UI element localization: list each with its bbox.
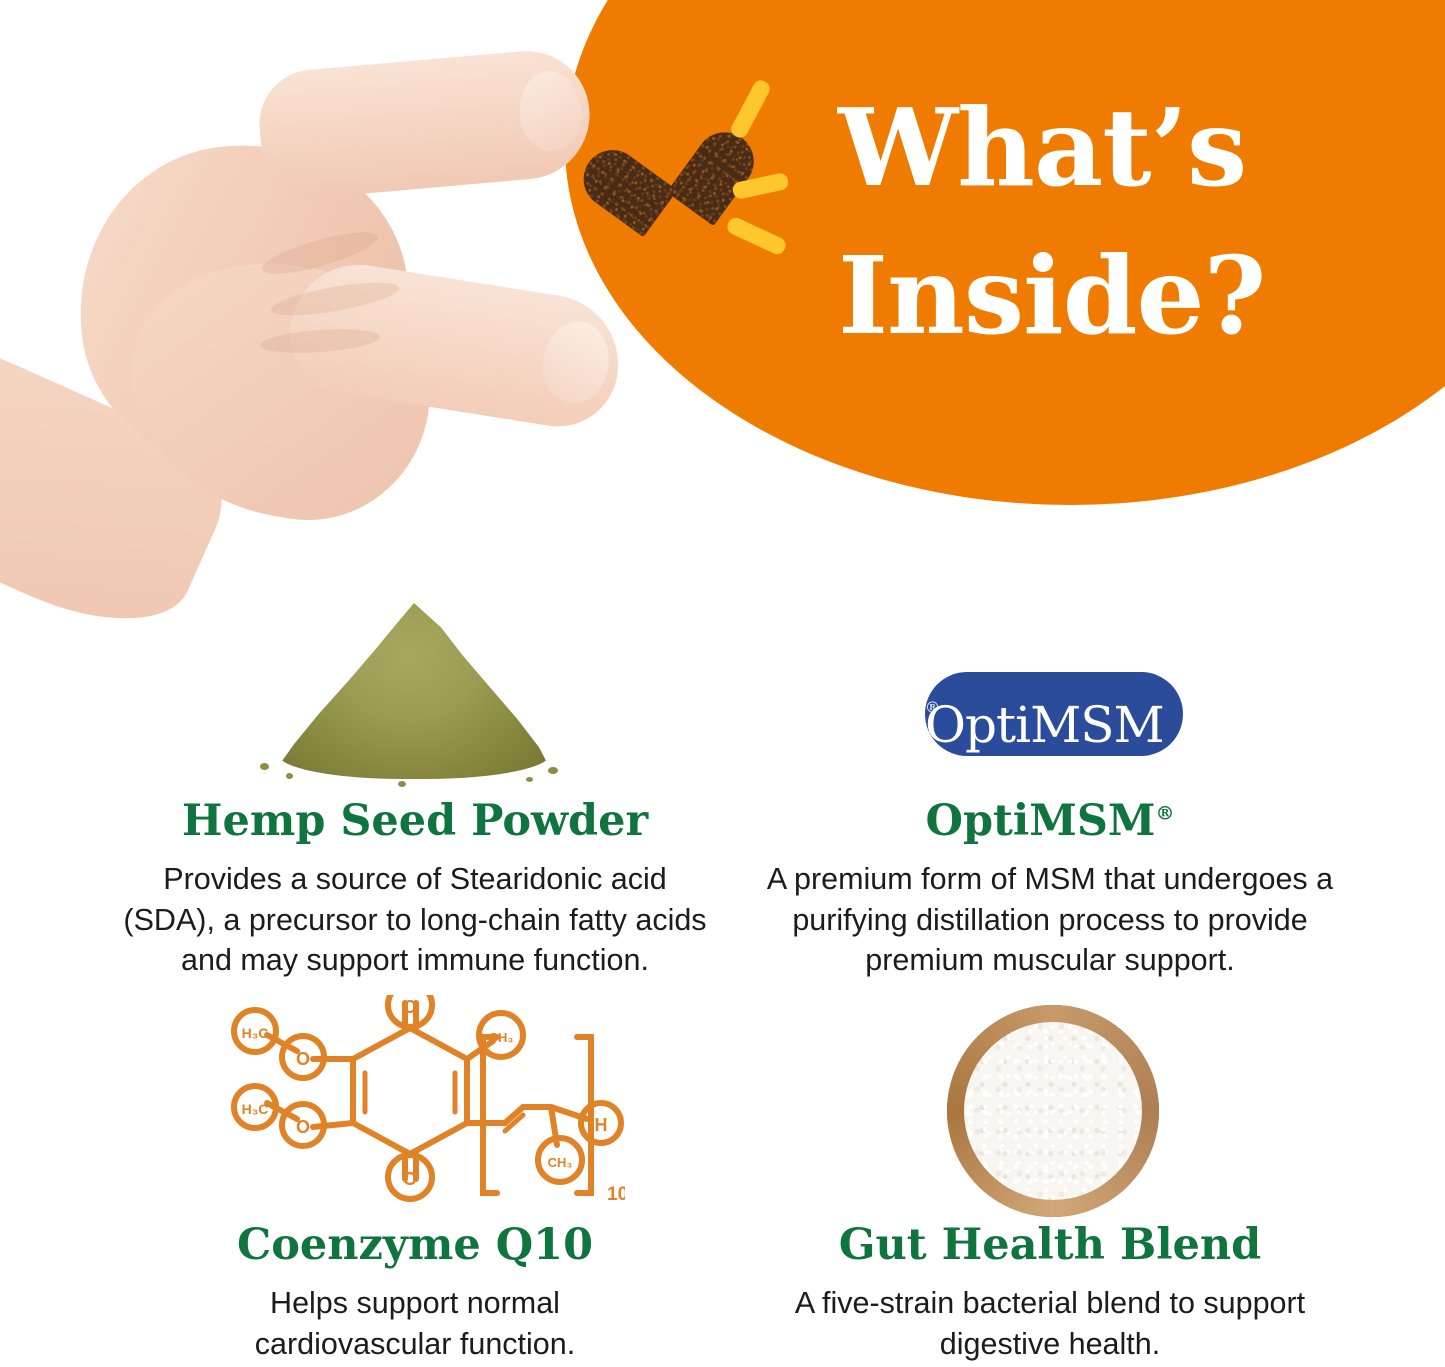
- ingredient-description: Provides a source of Stearidonic acid (S…: [115, 859, 715, 980]
- hero-banner: What’s Inside?: [0, 0, 1445, 520]
- optimsm-logo-text: OptiMSM®: [925, 684, 1183, 742]
- ingredient-description: A premium form of MSM that undergoes a p…: [740, 859, 1360, 980]
- molecule-label-h3c-lower: H₃C: [242, 1101, 269, 1117]
- molecule-label-o-upper-left: O: [296, 1049, 310, 1069]
- hemp-powder-pile: [278, 603, 550, 779]
- powder-speck: [398, 781, 406, 787]
- molecule-label-o-bottom: O: [403, 1169, 417, 1189]
- ingredient-card-gut-health-blend: Gut Health Blend A five-strain bacterial…: [705, 1222, 1395, 1364]
- heart-chew-icon: [613, 111, 723, 221]
- ingredient-description: A five-strain bacterial blend to support…: [785, 1283, 1315, 1364]
- ingredient-title: Coenzyme Q10: [80, 1222, 750, 1269]
- coenzyme-q10-molecule-diagram: O O O O H₃C H₃C CH₃ CH₃ H 10: [205, 995, 625, 1210]
- powder-speck: [548, 767, 558, 774]
- ingredient-title: Hemp Seed Powder: [80, 798, 750, 845]
- molecule-subscript-10: 10: [607, 1184, 625, 1205]
- registered-mark-icon: ®: [1155, 803, 1174, 825]
- ingredient-card-coenzyme-q10: Coenzyme Q10 Helps support normal cardio…: [80, 1222, 750, 1364]
- molecule-label-ch3-chain: CH₃: [548, 1155, 573, 1170]
- index-finger-shape: [255, 46, 595, 202]
- ingredient-title: Gut Health Blend: [705, 1222, 1395, 1269]
- title-line-2: Inside?: [838, 223, 1398, 371]
- powder-speck: [526, 777, 533, 782]
- molecule-label-h3c-upper: H₃C: [242, 1025, 269, 1041]
- ingredient-card-hemp-seed-powder: Hemp Seed Powder Provides a source of St…: [80, 798, 750, 980]
- hemp-seed-powder-image: [250, 595, 580, 795]
- molecule-label-o-top: O: [403, 997, 417, 1017]
- molecule-label-o-lower-left: O: [296, 1117, 310, 1137]
- powder-speck: [260, 763, 269, 770]
- white-powder-bowl-image: [947, 1005, 1159, 1217]
- hand-holding-chew-image: [0, 25, 720, 645]
- bowl-powder-fill: [964, 1022, 1142, 1200]
- optimsm-logo-badge: OptiMSM®: [925, 672, 1183, 756]
- molecule-label-ch3-top-right: CH₃: [489, 1030, 514, 1045]
- molecule-label-h-right: H: [595, 1115, 608, 1135]
- ingredient-description: Helps support normal cardiovascular func…: [200, 1283, 630, 1364]
- title-line-1: What’s: [838, 86, 1246, 211]
- page-title: What’s Inside?: [838, 75, 1398, 370]
- molecule-svg: O O O O H₃C H₃C CH₃ CH₃ H 10: [205, 995, 625, 1210]
- powder-speck: [286, 773, 293, 779]
- ingredient-card-optimsm: OptiMSM® A premium form of MSM that unde…: [705, 798, 1395, 980]
- ingredient-title: OptiMSM®: [705, 798, 1395, 845]
